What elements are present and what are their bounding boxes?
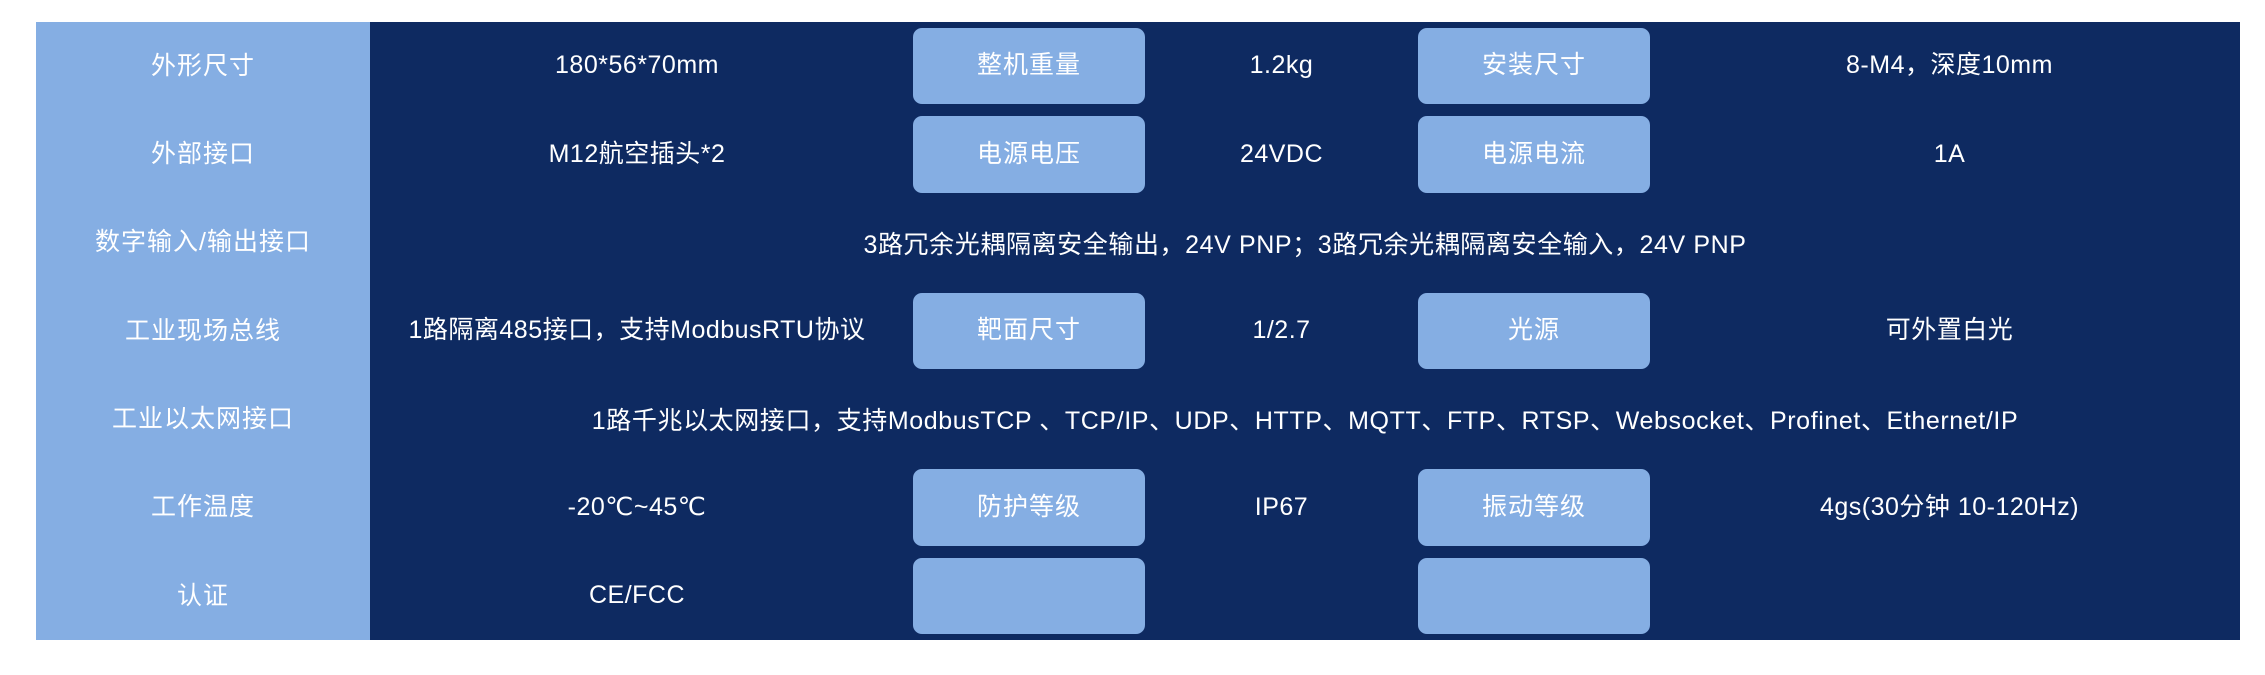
spec-chip-vibration-wrap: 振动等级 (1409, 463, 1659, 551)
spec-value-operating-temp: -20℃~45℃ (370, 463, 904, 551)
spec-chip-empty-left (913, 558, 1145, 634)
spec-chip-weight-wrap: 整机重量 (904, 22, 1154, 110)
spec-chip-sensor-size-wrap: 靶面尺寸 (904, 287, 1154, 375)
spec-value-empty-middle (1154, 552, 1409, 640)
spec-chip-supply-voltage: 电源电压 (913, 116, 1145, 192)
spec-chip-supply-current: 电源电流 (1418, 116, 1650, 192)
spec-value-sensor-size: 1/2.7 (1154, 287, 1409, 375)
spec-chip-ip-rating-wrap: 防护等级 (904, 463, 1154, 551)
spec-chip-empty-right-wrap (1409, 552, 1659, 640)
spec-value-supply-voltage: 24VDC (1154, 110, 1409, 198)
table-row: M12航空插头*2 电源电压 24VDC 电源电流 1A (370, 110, 2240, 198)
spec-value-fieldbus: 1路隔离485接口，支持ModbusRTU协议 (370, 287, 904, 375)
spec-body-column: 180*56*70mm 整机重量 1.2kg 安装尺寸 8-M4，深度10mm … (370, 22, 2240, 640)
spec-label-fieldbus: 工业现场总线 (36, 287, 370, 375)
table-row: CE/FCC (370, 552, 2240, 640)
spec-value-certification: CE/FCC (370, 552, 904, 640)
spec-chip-vibration: 振动等级 (1418, 469, 1650, 545)
spec-value-light-source: 可外置白光 (1659, 287, 2240, 375)
spec-value-external-io: M12航空插头*2 (370, 110, 904, 198)
spec-chip-empty-left-wrap (904, 552, 1154, 640)
table-row: 180*56*70mm 整机重量 1.2kg 安装尺寸 8-M4，深度10mm (370, 22, 2240, 110)
spec-label-column: 外形尺寸 外部接口 数字输入/输出接口 工业现场总线 工业以太网接口 工作温度 … (36, 22, 370, 640)
spec-chip-mount-size: 安装尺寸 (1418, 28, 1650, 104)
table-row: 3路冗余光耦隔离安全输出，24V PNP；3路冗余光耦隔离安全输入，24V PN… (370, 199, 2240, 287)
spec-chip-light-source-wrap: 光源 (1409, 287, 1659, 375)
table-row: -20℃~45℃ 防护等级 IP67 振动等级 4gs(30分钟 10-120H… (370, 463, 2240, 551)
spec-chip-weight: 整机重量 (913, 28, 1145, 104)
table-row: 1路隔离485接口，支持ModbusRTU协议 靶面尺寸 1/2.7 光源 可外… (370, 287, 2240, 375)
spec-chip-ip-rating: 防护等级 (913, 469, 1145, 545)
spec-chip-sensor-size: 靶面尺寸 (913, 293, 1145, 369)
spec-chip-empty-right (1418, 558, 1650, 634)
table-row: 1路千兆以太网接口，支持ModbusTCP 、TCP/IP、UDP、HTTP、M… (370, 375, 2240, 463)
specification-table: 外形尺寸 外部接口 数字输入/输出接口 工业现场总线 工业以太网接口 工作温度 … (36, 22, 2240, 640)
spec-chip-light-source: 光源 (1418, 293, 1650, 369)
spec-label-dimensions: 外形尺寸 (36, 22, 370, 110)
spec-value-empty-far-right (1659, 552, 2240, 640)
spec-value-supply-current: 1A (1659, 110, 2240, 198)
spec-value-mount-size: 8-M4，深度10mm (1659, 22, 2240, 110)
spec-value-ip-rating: IP67 (1154, 463, 1409, 551)
spec-value-industrial-eth: 1路千兆以太网接口，支持ModbusTCP 、TCP/IP、UDP、HTTP、M… (370, 401, 2240, 437)
spec-chip-supply-current-wrap: 电源电流 (1409, 110, 1659, 198)
spec-value-vibration: 4gs(30分钟 10-120Hz) (1659, 463, 2240, 551)
spec-label-operating-temp: 工作温度 (36, 463, 370, 551)
spec-label-digital-io: 数字输入/输出接口 (36, 199, 370, 287)
spec-chip-supply-voltage-wrap: 电源电压 (904, 110, 1154, 198)
spec-value-digital-io: 3路冗余光耦隔离安全输出，24V PNP；3路冗余光耦隔离安全输入，24V PN… (370, 225, 2240, 261)
spec-label-certification: 认证 (36, 552, 370, 640)
spec-label-industrial-eth: 工业以太网接口 (36, 375, 370, 463)
spec-label-external-io: 外部接口 (36, 110, 370, 198)
spec-chip-mount-size-wrap: 安装尺寸 (1409, 22, 1659, 110)
spec-value-weight: 1.2kg (1154, 22, 1409, 110)
spec-value-dimensions: 180*56*70mm (370, 22, 904, 110)
